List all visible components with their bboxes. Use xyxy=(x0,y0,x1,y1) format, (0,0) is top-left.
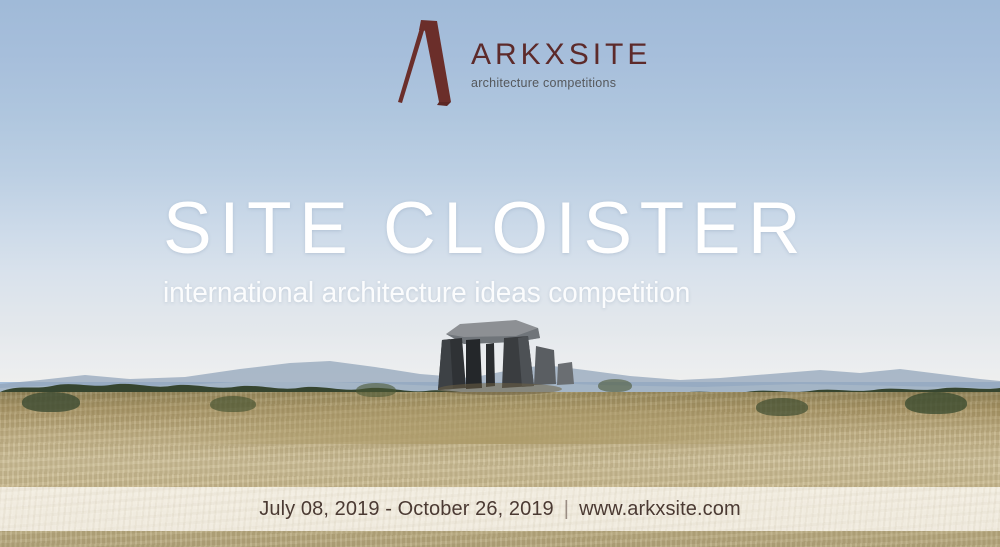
footer-info: July 08, 2019 - October 26, 2019 | www.a… xyxy=(259,498,740,521)
footer-separator: | xyxy=(564,498,569,521)
competition-poster: ARKXSITE architecture competitions SITE … xyxy=(0,0,1000,547)
brand-wordmark-block: ARKXSITE architecture competitions xyxy=(471,34,651,90)
brand-name: ARKXSITE xyxy=(471,40,651,71)
shrub-mid-left xyxy=(210,396,256,412)
shrub-left xyxy=(22,392,80,412)
competition-title: SITE CLOISTER xyxy=(163,192,883,265)
shrub-far-right xyxy=(905,392,967,414)
shrub-right xyxy=(756,398,808,416)
shrub-right-of-dolmen xyxy=(598,379,632,392)
website-link[interactable]: www.arkxsite.com xyxy=(579,498,741,521)
dolmen-megalith-icon xyxy=(420,300,600,400)
competition-subtitle: international architecture ideas competi… xyxy=(163,277,872,310)
arkxsite-a-mark-icon xyxy=(395,18,457,106)
brand-tagline: architecture competitions xyxy=(471,76,651,90)
footer-band: July 08, 2019 - October 26, 2019 | www.a… xyxy=(0,487,1000,531)
shrub-center xyxy=(356,383,396,397)
competition-dates: July 08, 2019 - October 26, 2019 xyxy=(259,498,554,521)
brand-logo[interactable]: ARKXSITE architecture competitions xyxy=(395,18,651,106)
headline-block: SITE CLOISTER international architecture… xyxy=(163,192,883,310)
